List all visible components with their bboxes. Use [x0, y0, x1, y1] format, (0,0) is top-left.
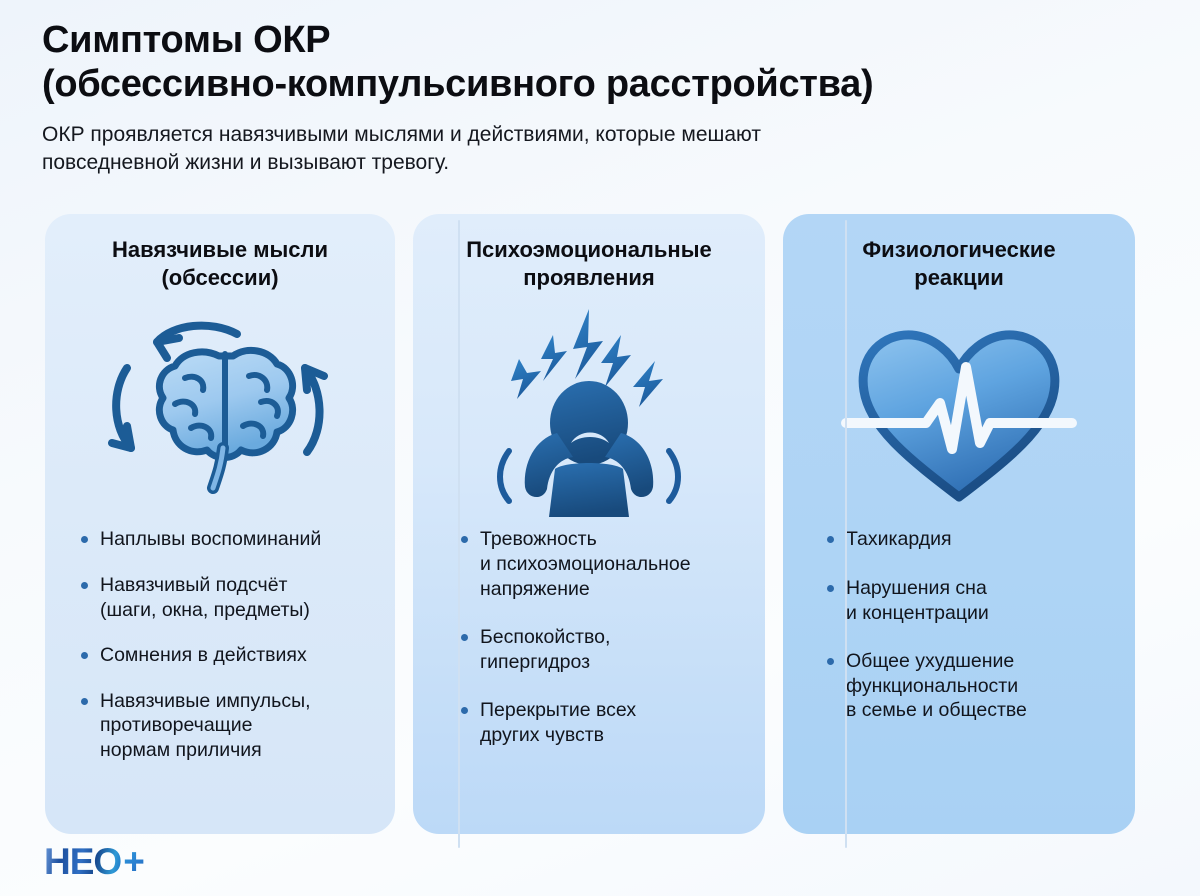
- list-item: Общее ухудшение функциональности в семье…: [827, 649, 1107, 723]
- card-psychoemotional: Психоэмоциональные проявления: [413, 214, 765, 834]
- card-title: Физиологические реакции: [809, 236, 1109, 291]
- card-title: Навязчивые мысли (обсессии): [71, 236, 369, 291]
- list-item: Нарушения сна и концентрации: [827, 576, 1107, 625]
- cards-row: Навязчивые мысли (обсессии): [45, 214, 1157, 834]
- symptom-list: Наплывы воспоминаний Навязчивый подсчёт …: [71, 527, 369, 816]
- list-item: Беспокойство, гипергидроз: [461, 625, 737, 674]
- page-title: Симптомы ОКР (обсессивно-компульсивного …: [42, 18, 1162, 107]
- brain-cycle-icon: [71, 295, 369, 527]
- card-divider: [845, 220, 847, 848]
- list-item: Наплывы воспоминаний: [81, 527, 367, 552]
- page-subtitle: ОКР проявляется навязчивыми мыслями и де…: [42, 121, 1072, 177]
- card-divider: [458, 220, 460, 848]
- infographic-page: Симптомы ОКР (обсессивно-компульсивного …: [0, 0, 1200, 896]
- list-item: Тахикардия: [827, 527, 1107, 552]
- symptom-list: Тахикардия Нарушения сна и концентрации …: [809, 527, 1109, 816]
- card-obsessive-thoughts: Навязчивые мысли (обсессии): [45, 214, 395, 834]
- logo-name: НЕО: [44, 843, 121, 880]
- heart-pulse-icon: [809, 295, 1109, 527]
- list-item: Сомнения в действиях: [81, 643, 367, 668]
- card-title: Психоэмоциональные проявления: [439, 236, 739, 291]
- list-item: Перекрытие всех других чувств: [461, 698, 737, 747]
- symptom-list: Тревожность и психоэмоциональное напряже…: [439, 527, 739, 816]
- logo-plus-icon: +: [123, 843, 145, 880]
- list-item: Тревожность и психоэмоциональное напряже…: [461, 527, 737, 601]
- list-item: Навязчивый подсчёт (шаги, окна, предметы…: [81, 573, 367, 622]
- stressed-person-icon: [439, 295, 739, 527]
- header: Симптомы ОКР (обсессивно-компульсивного …: [42, 18, 1162, 177]
- list-item: Навязчивые импульсы, противоречащие норм…: [81, 689, 367, 763]
- card-physiological: Физиологические реакции: [783, 214, 1135, 834]
- brand-logo: НЕО +: [44, 843, 145, 880]
